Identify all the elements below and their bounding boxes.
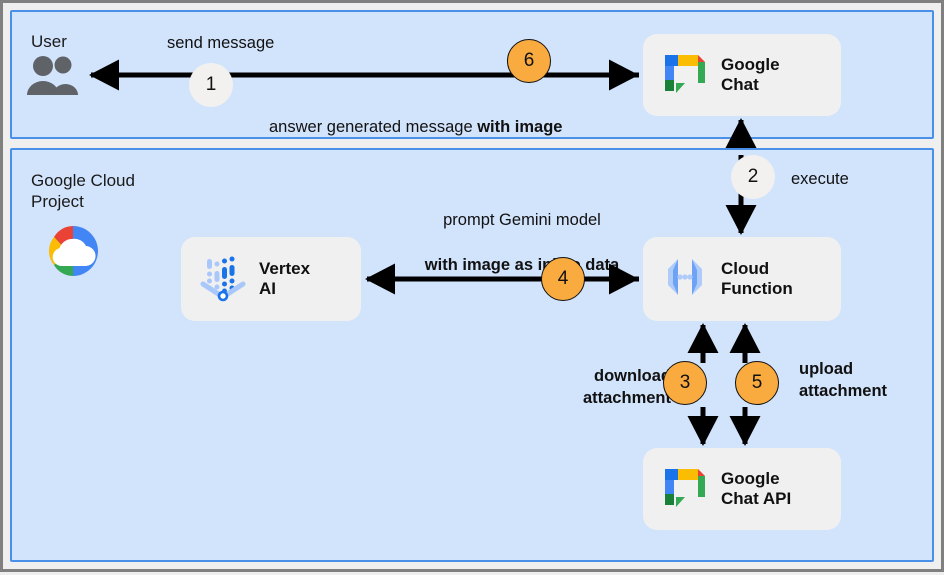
step-badge-3[interactable]: 3 <box>663 361 707 405</box>
architecture-diagram: User Google Cloud Project <box>0 0 944 572</box>
google-chat-icon <box>659 461 711 518</box>
card-google-chat-label: Google Chat <box>721 55 780 96</box>
edge-label-download-attachment: download attachment <box>531 365 671 410</box>
google-chat-icon <box>659 47 711 104</box>
answer-generated-bold-text: with image <box>477 118 562 136</box>
prompt-gemini-regular-text: prompt Gemini model <box>417 209 627 231</box>
step-badge-5[interactable]: 5 <box>735 361 779 405</box>
card-vertex-ai[interactable]: Vertex AI <box>181 237 361 321</box>
user-icon <box>25 55 83 104</box>
card-google-chat-api[interactable]: Google Chat API <box>643 448 841 530</box>
cloud-function-icon <box>659 251 711 308</box>
step-badge-6[interactable]: 6 <box>507 39 551 83</box>
google-cloud-project-panel-title: Google Cloud Project <box>31 170 135 213</box>
step-badge-2[interactable]: 2 <box>731 155 775 199</box>
card-cloud-function-label: Cloud Function <box>721 259 793 300</box>
edge-label-send-message: send message <box>167 32 274 54</box>
step-badge-1[interactable]: 1 <box>189 63 233 107</box>
vertex-ai-icon <box>197 251 249 308</box>
prompt-gemini-bold-text: with image as inline data <box>417 254 627 276</box>
step-badge-4[interactable]: 4 <box>541 257 585 301</box>
user-panel-title: User <box>31 31 67 52</box>
card-google-chat[interactable]: Google Chat <box>643 34 841 116</box>
card-vertex-ai-label: Vertex AI <box>259 259 310 300</box>
card-google-chat-api-label: Google Chat API <box>721 469 791 510</box>
edge-label-prompt-gemini: prompt Gemini model with image as inline… <box>417 187 627 298</box>
edge-label-upload-attachment: upload attachment <box>799 358 887 403</box>
edge-label-execute: execute <box>791 168 849 190</box>
edge-label-answer-generated: answer generated message with image <box>269 94 562 139</box>
answer-generated-regular-text: answer generated message <box>269 118 477 136</box>
google-cloud-logo-icon <box>41 222 105 285</box>
card-cloud-function[interactable]: Cloud Function <box>643 237 841 321</box>
